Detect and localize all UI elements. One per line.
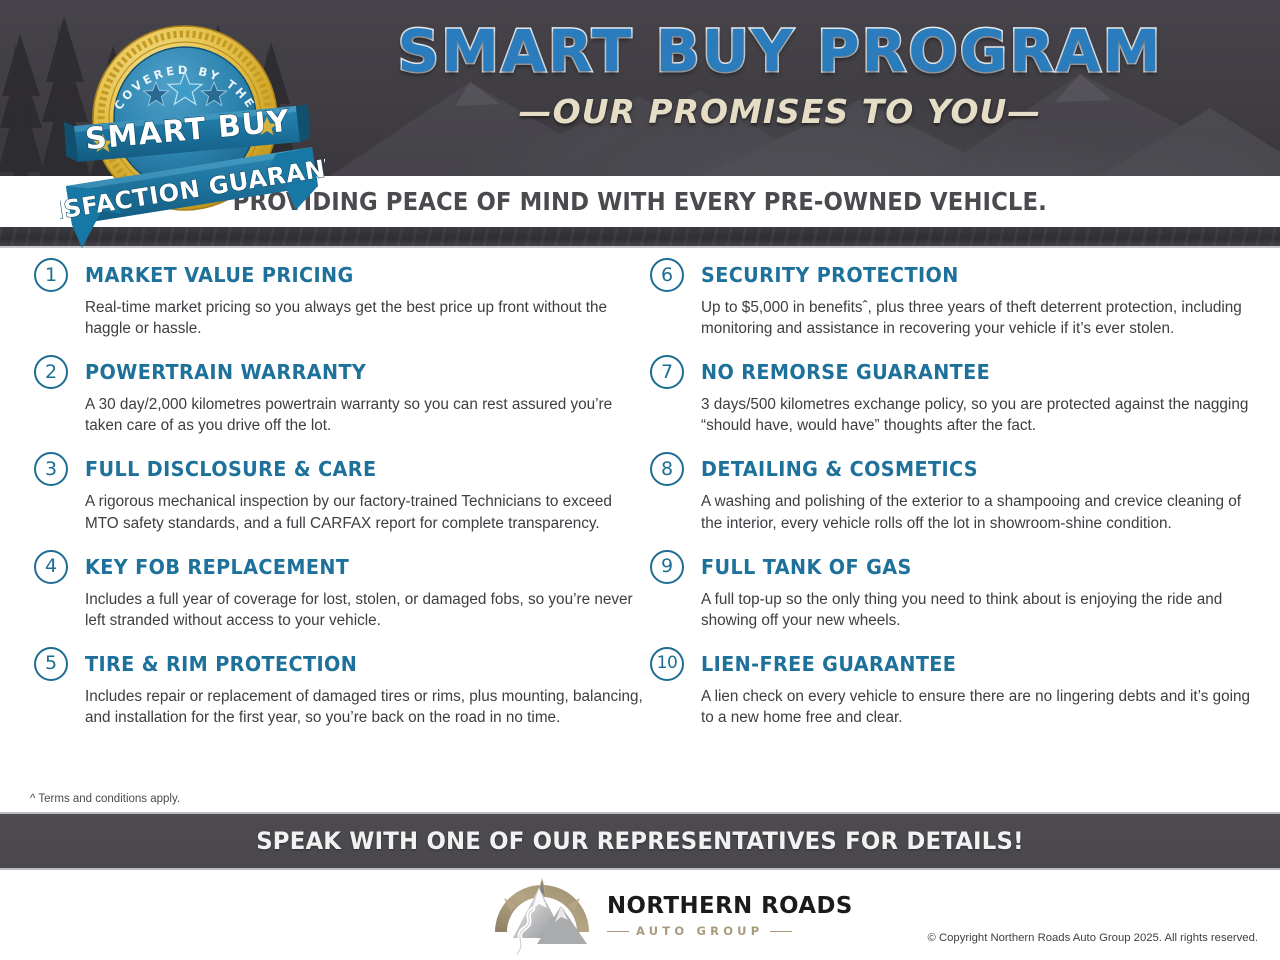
promise-title: NO REMORSE GUARANTEE [701, 360, 990, 384]
promise-item: 4 KEY FOB REPLACEMENT Includes a full ye… [34, 548, 654, 631]
promise-item: 10 LIEN-FREE GUARANTEE A lien check on e… [650, 645, 1270, 728]
promise-header: 9 FULL TANK OF GAS [650, 548, 1270, 586]
terms-footnote: ^ Terms and conditions apply. [30, 793, 180, 805]
promise-number-badge: 9 [650, 550, 684, 584]
promise-body: A full top-up so the only thing you need… [701, 589, 1257, 631]
promise-body: Real-time market pricing so you always g… [85, 297, 645, 339]
promise-item: 8 DETAILING & COSMETICS A washing and po… [650, 450, 1270, 533]
mountain-compass-logo-icon [487, 876, 597, 956]
promise-number-badge: 2 [34, 355, 68, 389]
promise-item: 9 FULL TANK OF GAS A full top-up so the … [650, 548, 1270, 631]
promise-number-badge: 10 [650, 647, 684, 681]
promise-item: 3 FULL DISCLOSURE & CARE A rigorous mech… [34, 450, 654, 533]
promise-body: 3 days/500 kilometres exchange policy, s… [701, 394, 1257, 436]
smart-buy-program-flyer: SMART BUY PROGRAM —OUR PROMISES TO YOU— … [0, 0, 1280, 960]
promise-header: 6 SECURITY PROTECTION [650, 256, 1270, 294]
promise-title: SECURITY PROTECTION [701, 263, 959, 287]
promise-body: A washing and polishing of the exterior … [701, 491, 1257, 533]
promise-item: 7 NO REMORSE GUARANTEE 3 days/500 kilome… [650, 353, 1270, 436]
logo-name: NORTHERN ROADS [607, 894, 853, 918]
promise-body: Includes a full year of coverage for los… [85, 589, 645, 631]
promises-section: 1 MARKET VALUE PRICING Real-time market … [0, 256, 1280, 796]
promise-header: 7 NO REMORSE GUARANTEE [650, 353, 1270, 391]
promise-body: Up to $5,000 in benefitsˆ, plus three ye… [701, 297, 1257, 339]
promise-title: KEY FOB REPLACEMENT [85, 555, 349, 579]
promise-number-badge: 4 [34, 550, 68, 584]
tagline-text: PROVIDING PEACE OF MIND WITH EVERY PRE-O… [233, 187, 1047, 216]
promise-title: POWERTRAIN WARRANTY [85, 360, 366, 384]
cta-banner[interactable]: SPEAK WITH ONE OF OUR REPRESENTATIVES FO… [0, 812, 1280, 870]
promise-number-badge: 6 [650, 258, 684, 292]
promise-header: 3 FULL DISCLOSURE & CARE [34, 450, 654, 488]
logo-tagline: AUTO GROUP [636, 924, 763, 938]
logo-rule-right [770, 931, 792, 933]
promise-body: A rigorous mechanical inspection by our … [85, 491, 645, 533]
promise-header: 5 TIRE & RIM PROTECTION [34, 645, 654, 683]
logo-rule-left [607, 931, 629, 933]
smart-buy-satisfaction-guarantee-badge: COVERED BY THE SMART BUY SATISFACTI [60, 14, 325, 249]
promise-number-badge: 5 [34, 647, 68, 681]
promise-body: A 30 day/2,000 kilometres powertrain war… [85, 394, 645, 436]
promise-title: LIEN-FREE GUARANTEE [701, 652, 956, 676]
promise-title: FULL TANK OF GAS [701, 555, 912, 579]
promise-title: FULL DISCLOSURE & CARE [85, 457, 376, 481]
promise-header: 10 LIEN-FREE GUARANTEE [650, 645, 1270, 683]
page-title: SMART BUY PROGRAM [300, 22, 1260, 80]
promise-header: 1 MARKET VALUE PRICING [34, 256, 654, 294]
company-logo: NORTHERN ROADS AUTO GROUP [487, 876, 860, 956]
promises-column-left: 1 MARKET VALUE PRICING Real-time market … [34, 256, 654, 742]
promise-title: DETAILING & COSMETICS [701, 457, 978, 481]
promise-header: 2 POWERTRAIN WARRANTY [34, 353, 654, 391]
promise-header: 8 DETAILING & COSMETICS [650, 450, 1270, 488]
promise-item: 1 MARKET VALUE PRICING Real-time market … [34, 256, 654, 339]
promise-number-badge: 7 [650, 355, 684, 389]
promise-item: 6 SECURITY PROTECTION Up to $5,000 in be… [650, 256, 1270, 339]
promise-title: MARKET VALUE PRICING [85, 263, 354, 287]
promise-body: Includes repair or replacement of damage… [85, 686, 645, 728]
header-text-block: SMART BUY PROGRAM —OUR PROMISES TO YOU— [300, 22, 1260, 131]
promise-number-badge: 1 [34, 258, 68, 292]
promises-column-right: 6 SECURITY PROTECTION Up to $5,000 in be… [650, 256, 1270, 742]
promise-title: TIRE & RIM PROTECTION [85, 652, 357, 676]
promise-item: 5 TIRE & RIM PROTECTION Includes repair … [34, 645, 654, 728]
logo-wordmark: NORTHERN ROADS AUTO GROUP [607, 894, 860, 939]
copyright-text: © Copyright Northern Roads Auto Group 20… [928, 932, 1258, 944]
promise-body: A lien check on every vehicle to ensure … [701, 686, 1257, 728]
promise-header: 4 KEY FOB REPLACEMENT [34, 548, 654, 586]
promise-number-badge: 8 [650, 452, 684, 486]
page-subtitle: —OUR PROMISES TO YOU— [300, 92, 1260, 131]
promise-item: 2 POWERTRAIN WARRANTY A 30 day/2,000 kil… [34, 353, 654, 436]
logo-tagline-row: AUTO GROUP [607, 924, 860, 938]
cta-text: SPEAK WITH ONE OF OUR REPRESENTATIVES FO… [256, 827, 1023, 855]
promise-number-badge: 3 [34, 452, 68, 486]
